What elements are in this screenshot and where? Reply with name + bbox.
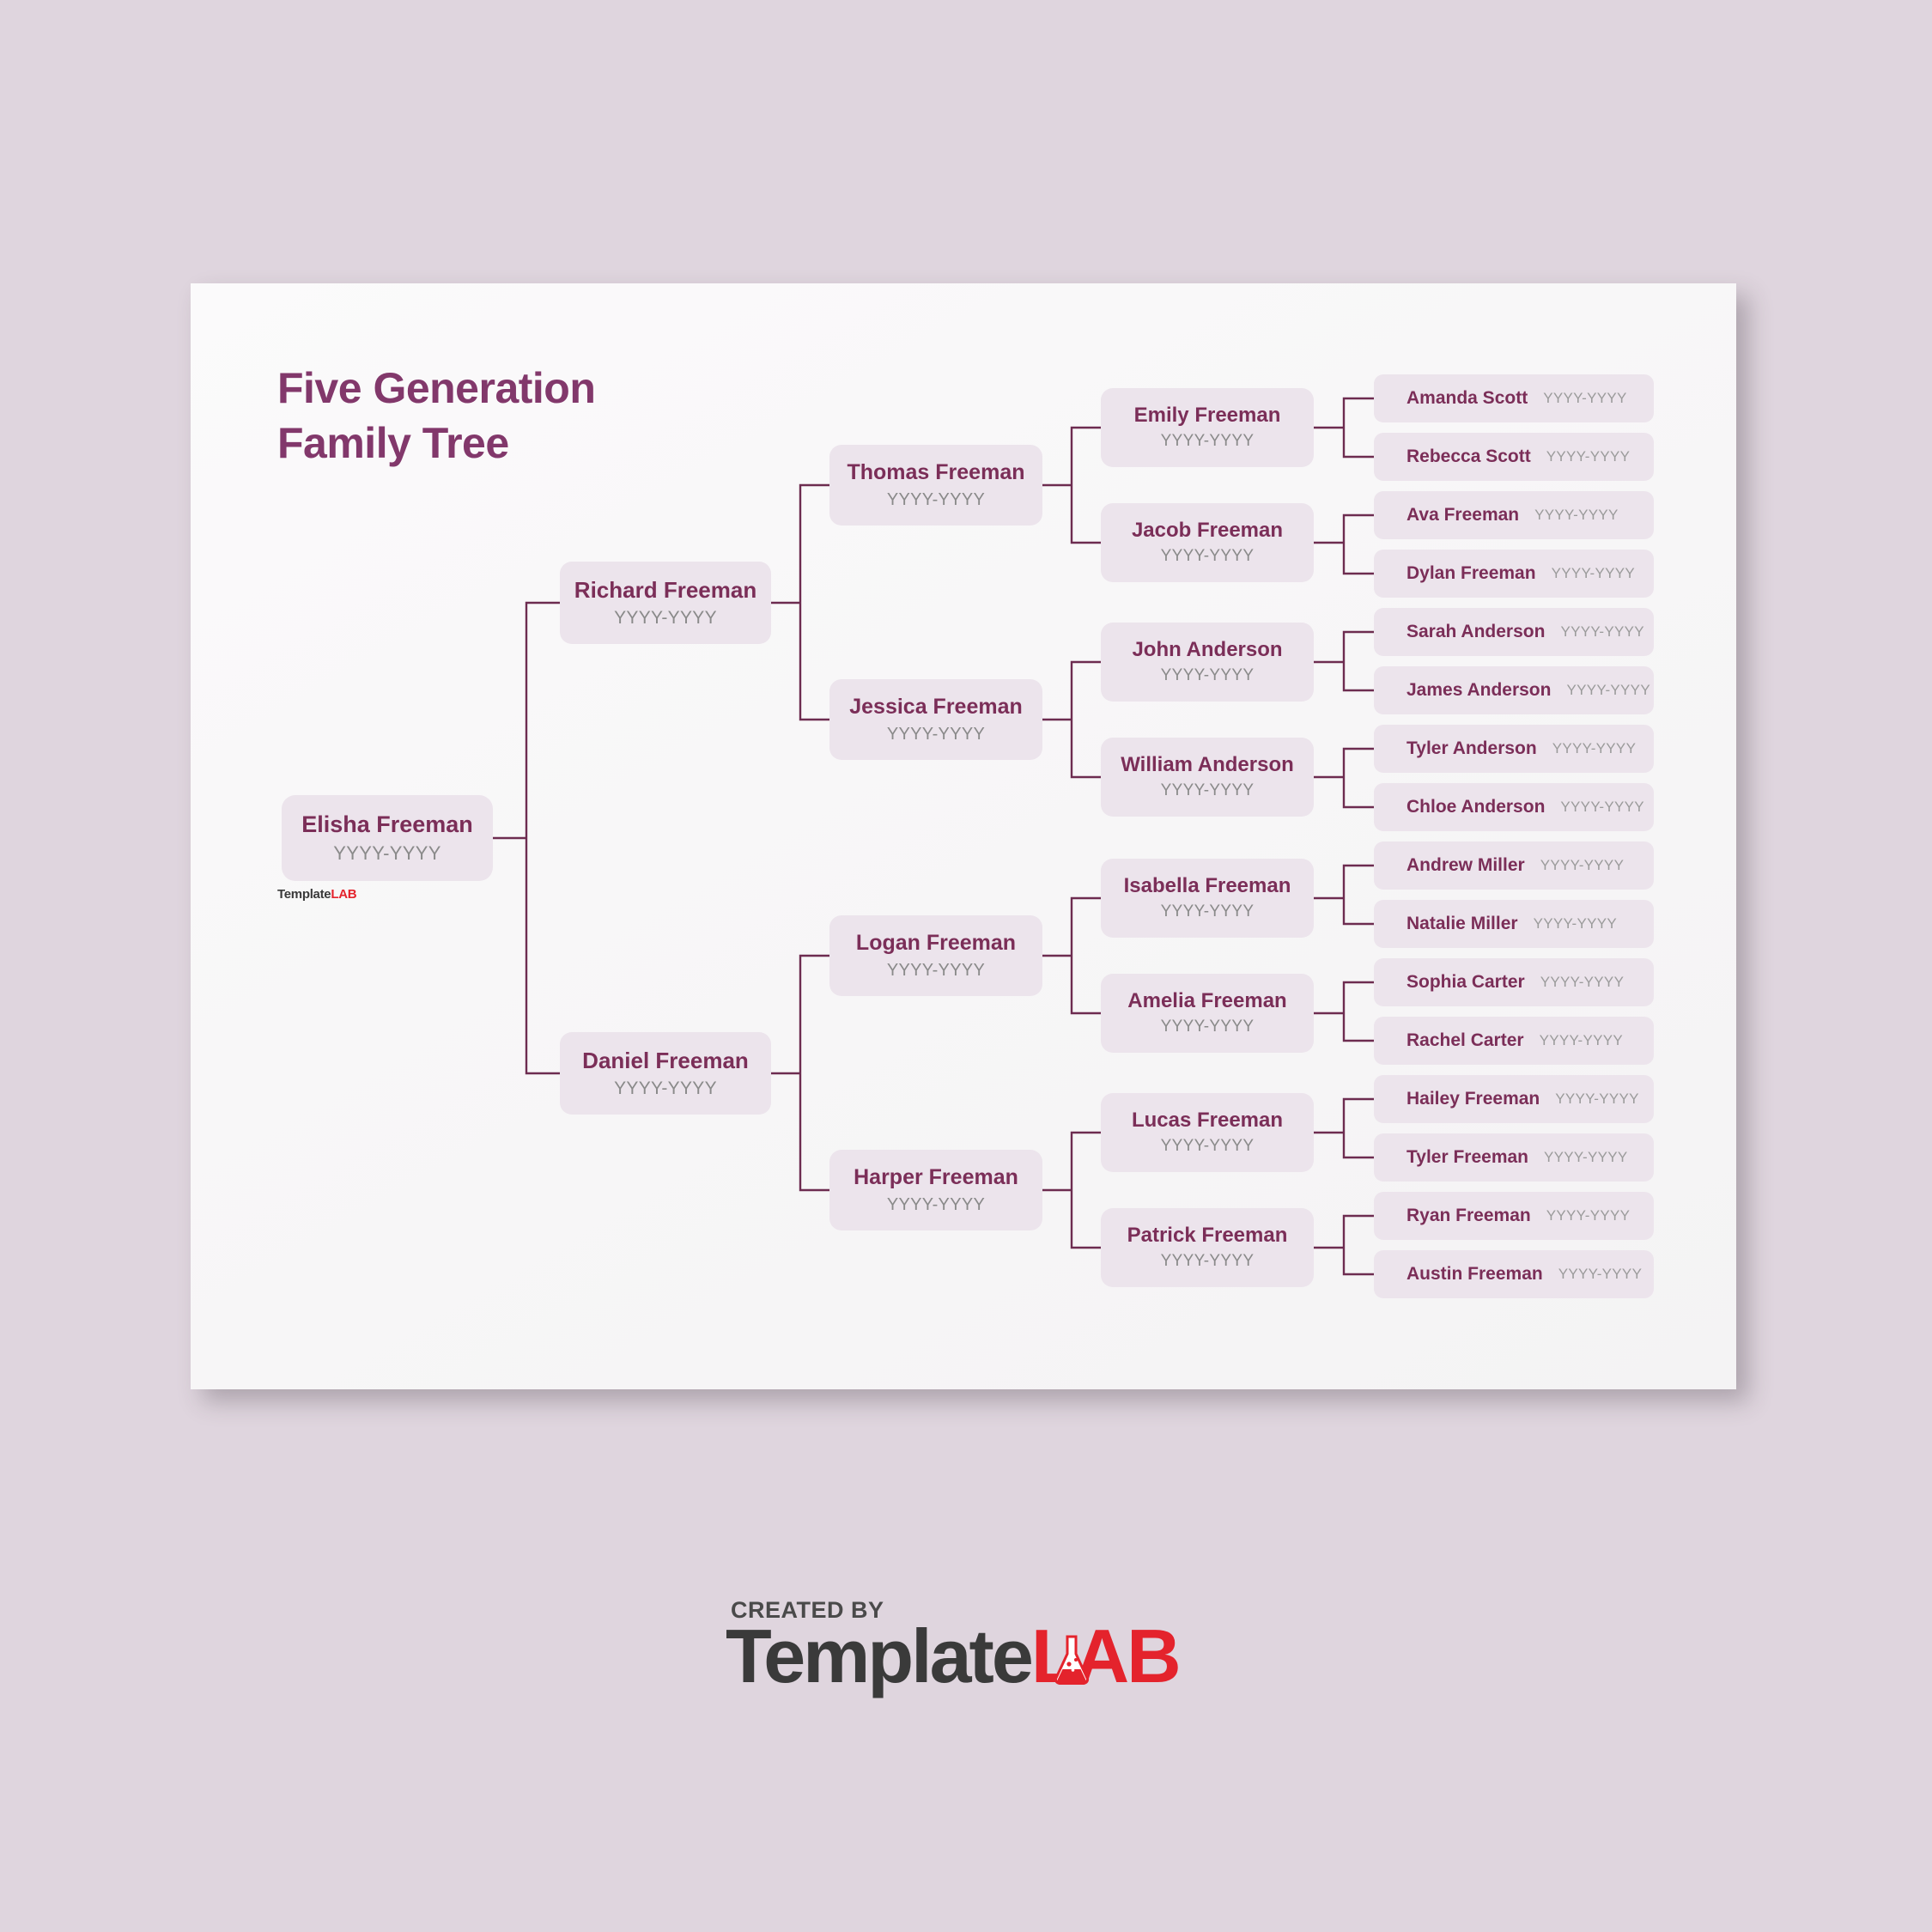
node-gen5-4[interactable]: Sarah Anderson YYYY-YYYY: [1374, 608, 1654, 656]
node-gen5-15[interactable]: Austin Freeman YYYY-YYYY: [1374, 1250, 1654, 1298]
node-gen4-6[interactable]: Lucas Freeman YYYY-YYYY: [1101, 1093, 1314, 1172]
node-years: YYYY-YYYY: [1546, 449, 1631, 465]
brand-template-text: Template: [726, 1613, 1031, 1698]
node-years: YYYY-YYYY: [1555, 1091, 1639, 1108]
templatelab-watermark: TemplateLAB: [277, 887, 356, 902]
node-name: Harper Freeman: [854, 1166, 1018, 1190]
node-name: Logan Freeman: [856, 932, 1016, 956]
node-years: YYYY-YYYY: [1534, 916, 1618, 933]
node-gen5-0[interactable]: Amanda Scott YYYY-YYYY: [1374, 374, 1654, 422]
node-years: YYYY-YYYY: [333, 843, 440, 864]
node-years: YYYY-YYYY: [614, 1078, 717, 1098]
node-years: YYYY-YYYY: [1161, 433, 1255, 451]
node-name: Patrick Freeman: [1127, 1224, 1288, 1247]
node-name: Tyler Anderson: [1406, 738, 1537, 758]
node-years: YYYY-YYYY: [1560, 624, 1644, 641]
node-name: Rachel Carter: [1406, 1030, 1524, 1050]
node-years: YYYY-YYYY: [1540, 858, 1625, 874]
node-name: Lucas Freeman: [1132, 1109, 1283, 1132]
node-years: YYYY-YYYY: [1534, 507, 1619, 524]
node-years: YYYY-YYYY: [1566, 683, 1650, 699]
node-gen3-3[interactable]: Harper Freeman YYYY-YYYY: [829, 1150, 1042, 1230]
node-gen5-10[interactable]: Sophia Carter YYYY-YYYY: [1374, 958, 1654, 1006]
node-gen5-3[interactable]: Dylan Freeman YYYY-YYYY: [1374, 550, 1654, 598]
node-gen4-7[interactable]: Patrick Freeman YYYY-YYYY: [1101, 1208, 1314, 1287]
node-name: Chloe Anderson: [1406, 797, 1545, 817]
node-gen5-11[interactable]: Rachel Carter YYYY-YYYY: [1374, 1017, 1654, 1065]
node-gen2-0[interactable]: Richard Freeman YYYY-YYYY: [560, 562, 771, 644]
node-name: Natalie Miller: [1406, 914, 1518, 933]
node-name: Tyler Freeman: [1406, 1147, 1528, 1167]
node-years: YYYY-YYYY: [1552, 566, 1636, 582]
node-gen4-0[interactable]: Emily Freeman YYYY-YYYY: [1101, 388, 1314, 467]
node-years: YYYY-YYYY: [1161, 1018, 1255, 1036]
node-gen5-9[interactable]: Natalie Miller YYYY-YYYY: [1374, 900, 1654, 948]
node-name: Jacob Freeman: [1132, 519, 1283, 542]
node-years: YYYY-YYYY: [1161, 548, 1255, 566]
node-years: YYYY-YYYY: [1161, 667, 1255, 685]
node-name: Isabella Freeman: [1124, 875, 1291, 897]
node-gen3-1[interactable]: Jessica Freeman YYYY-YYYY: [829, 679, 1042, 760]
node-name: Elisha Freeman: [301, 812, 473, 838]
node-name: Andrew Miller: [1406, 855, 1525, 875]
node-gen5-12[interactable]: Hailey Freeman YYYY-YYYY: [1374, 1075, 1654, 1123]
node-gen5-8[interactable]: Andrew Miller YYYY-YYYY: [1374, 841, 1654, 890]
node-years: YYYY-YYYY: [887, 490, 985, 509]
node-gen3-2[interactable]: Logan Freeman YYYY-YYYY: [829, 915, 1042, 996]
watermark-lab-text: LAB: [331, 887, 356, 902]
footer-templatelab-logo: CREATED BY TemplateLAB: [726, 1597, 1241, 1692]
node-years: YYYY-YYYY: [1558, 1267, 1643, 1283]
node-years: YYYY-YYYY: [1552, 741, 1637, 757]
node-name: Rebecca Scott: [1406, 447, 1531, 466]
node-gen4-3[interactable]: William Anderson YYYY-YYYY: [1101, 738, 1314, 817]
node-name: Amelia Freeman: [1127, 990, 1286, 1012]
node-years: YYYY-YYYY: [887, 1195, 985, 1214]
node-gen3-0[interactable]: Thomas Freeman YYYY-YYYY: [829, 445, 1042, 526]
node-name: Hailey Freeman: [1406, 1089, 1540, 1109]
page-title: Five Generation Family Tree: [277, 361, 793, 471]
node-gen4-1[interactable]: Jacob Freeman YYYY-YYYY: [1101, 503, 1314, 582]
node-gen4-2[interactable]: John Anderson YYYY-YYYY: [1101, 623, 1314, 702]
node-gen5-6[interactable]: Tyler Anderson YYYY-YYYY: [1374, 725, 1654, 773]
node-name: Amanda Scott: [1406, 388, 1528, 408]
node-years: YYYY-YYYY: [1161, 903, 1255, 921]
node-gen5-5[interactable]: James Anderson YYYY-YYYY: [1374, 666, 1654, 714]
node-name: Richard Freeman: [574, 578, 756, 603]
node-gen1-0[interactable]: Elisha Freeman YYYY-YYYY: [282, 795, 493, 881]
watermark-template-text: Template: [277, 887, 331, 902]
node-gen5-7[interactable]: Chloe Anderson YYYY-YYYY: [1374, 783, 1654, 831]
node-years: YYYY-YYYY: [1161, 782, 1255, 800]
node-years: YYYY-YYYY: [1540, 1033, 1624, 1049]
node-years: YYYY-YYYY: [1543, 391, 1627, 407]
node-gen5-1[interactable]: Rebecca Scott YYYY-YYYY: [1374, 433, 1654, 481]
node-name: Daniel Freeman: [582, 1048, 749, 1073]
node-gen2-1[interactable]: Daniel Freeman YYYY-YYYY: [560, 1032, 771, 1115]
flask-icon: [1052, 1633, 1091, 1686]
node-name: Sophia Carter: [1406, 972, 1525, 992]
node-name: Emily Freeman: [1134, 404, 1281, 427]
node-years: YYYY-YYYY: [1546, 1208, 1631, 1224]
node-gen5-2[interactable]: Ava Freeman YYYY-YYYY: [1374, 491, 1654, 539]
node-years: YYYY-YYYY: [887, 725, 985, 744]
node-name: Ryan Freeman: [1406, 1206, 1531, 1225]
node-gen5-14[interactable]: Ryan Freeman YYYY-YYYY: [1374, 1192, 1654, 1240]
node-years: YYYY-YYYY: [1544, 1150, 1628, 1166]
page-title-line1: Five Generation: [277, 364, 595, 412]
node-name: Dylan Freeman: [1406, 563, 1536, 583]
node-gen4-4[interactable]: Isabella Freeman YYYY-YYYY: [1101, 859, 1314, 938]
node-name: Thomas Freeman: [847, 461, 1024, 485]
node-years: YYYY-YYYY: [887, 961, 985, 980]
node-name: William Anderson: [1121, 754, 1294, 776]
node-years: YYYY-YYYY: [1161, 1138, 1255, 1156]
brand-wordmark: TemplateLAB: [726, 1620, 1241, 1692]
node-gen5-13[interactable]: Tyler Freeman YYYY-YYYY: [1374, 1133, 1654, 1182]
node-years: YYYY-YYYY: [1560, 799, 1644, 816]
node-name: Ava Freeman: [1406, 505, 1519, 525]
node-name: James Anderson: [1406, 680, 1551, 700]
node-years: YYYY-YYYY: [1161, 1253, 1255, 1271]
node-name: Sarah Anderson: [1406, 622, 1545, 641]
page-title-line2: Family Tree: [277, 416, 793, 471]
node-years: YYYY-YYYY: [1540, 975, 1625, 991]
node-years: YYYY-YYYY: [614, 608, 717, 628]
node-name: Austin Freeman: [1406, 1264, 1543, 1284]
node-name: Jessica Freeman: [849, 696, 1023, 720]
node-name: John Anderson: [1132, 639, 1282, 661]
node-gen4-5[interactable]: Amelia Freeman YYYY-YYYY: [1101, 974, 1314, 1053]
family-tree-poster: Five Generation Family Tree TemplateLAB …: [0, 0, 1932, 1932]
